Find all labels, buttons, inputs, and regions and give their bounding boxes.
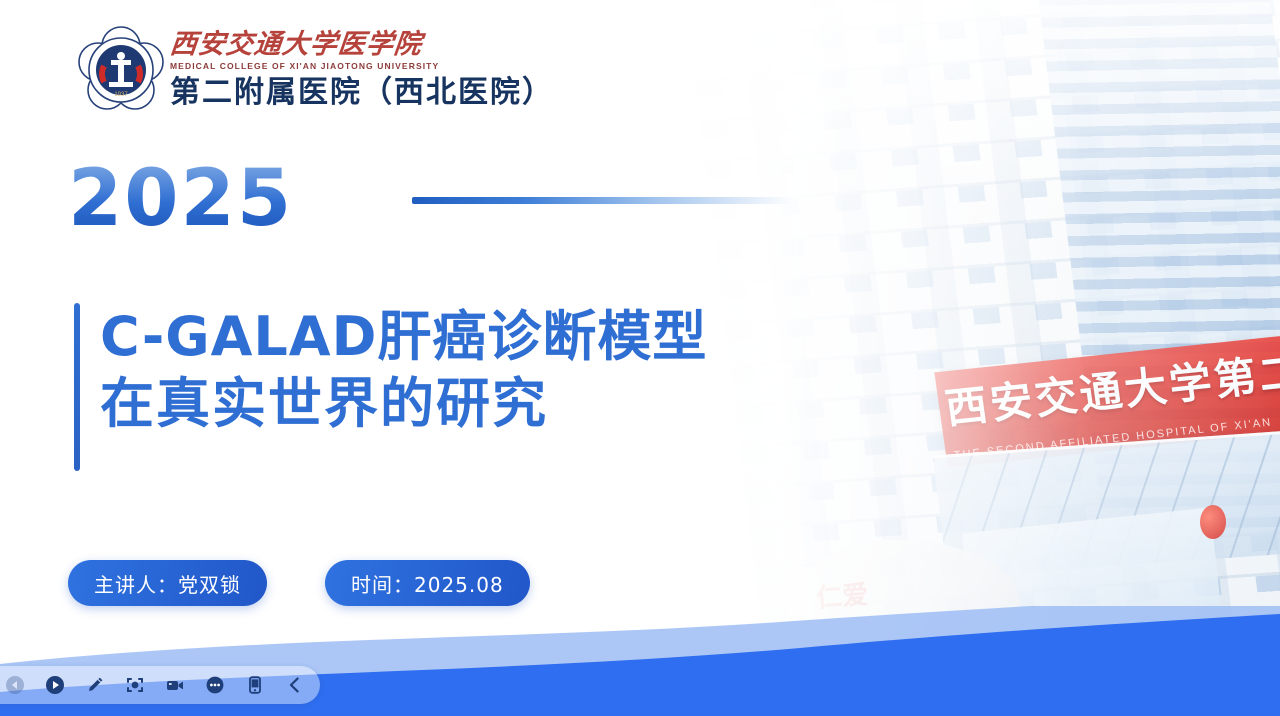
logo-text-block: 西安交通大学医学院 MEDICAL COLLEGE OF XI'AN JIAOT… [170,31,554,109]
chevron-left-icon[interactable] [284,674,306,696]
floating-toolbar[interactable] [0,666,320,704]
date-badge: 时间：2025.08 [325,560,530,606]
logo-hospital-name-cn: 第二附属医院（西北医院） [170,77,554,109]
video-camera-icon[interactable] [164,674,186,696]
pencil-icon[interactable] [84,674,106,696]
logo-college-name-en: MEDICAL COLLEGE OF XI'AN JIAOTONG UNIVER… [170,61,554,71]
scan-focus-icon[interactable] [124,674,146,696]
presentation-slide: 西安交通大学第二 THE SECOND AFFILIATED HOSPITAL … [0,0,1280,716]
title-accent-bar [74,303,80,471]
gradient-divider-line [412,197,792,204]
title-line-2: 在真实世界的研究 [100,369,820,438]
logo-college-name-cn: 西安交通大学医学院 [169,31,556,58]
year-heading: 2025 [68,160,293,238]
back-circle-icon[interactable] [4,674,26,696]
meta-badges: 主讲人：党双锁 时间：2025.08 [68,560,530,606]
svg-text:1937: 1937 [114,92,128,98]
more-dots-icon[interactable] [204,674,226,696]
page-title: C-GALAD肝癌诊断模型 在真实世界的研究 [100,306,820,438]
mobile-phone-icon[interactable] [244,674,266,696]
title-line-1: C-GALAD肝癌诊断模型 [100,306,820,369]
institution-logo: 1937 西安交通大学医学院 MEDICAL COLLEGE OF XI'AN … [78,26,554,114]
speaker-badge: 主讲人：党双锁 [68,560,267,606]
play-circle-icon[interactable] [44,674,66,696]
university-emblem-icon: 1937 [78,26,164,114]
